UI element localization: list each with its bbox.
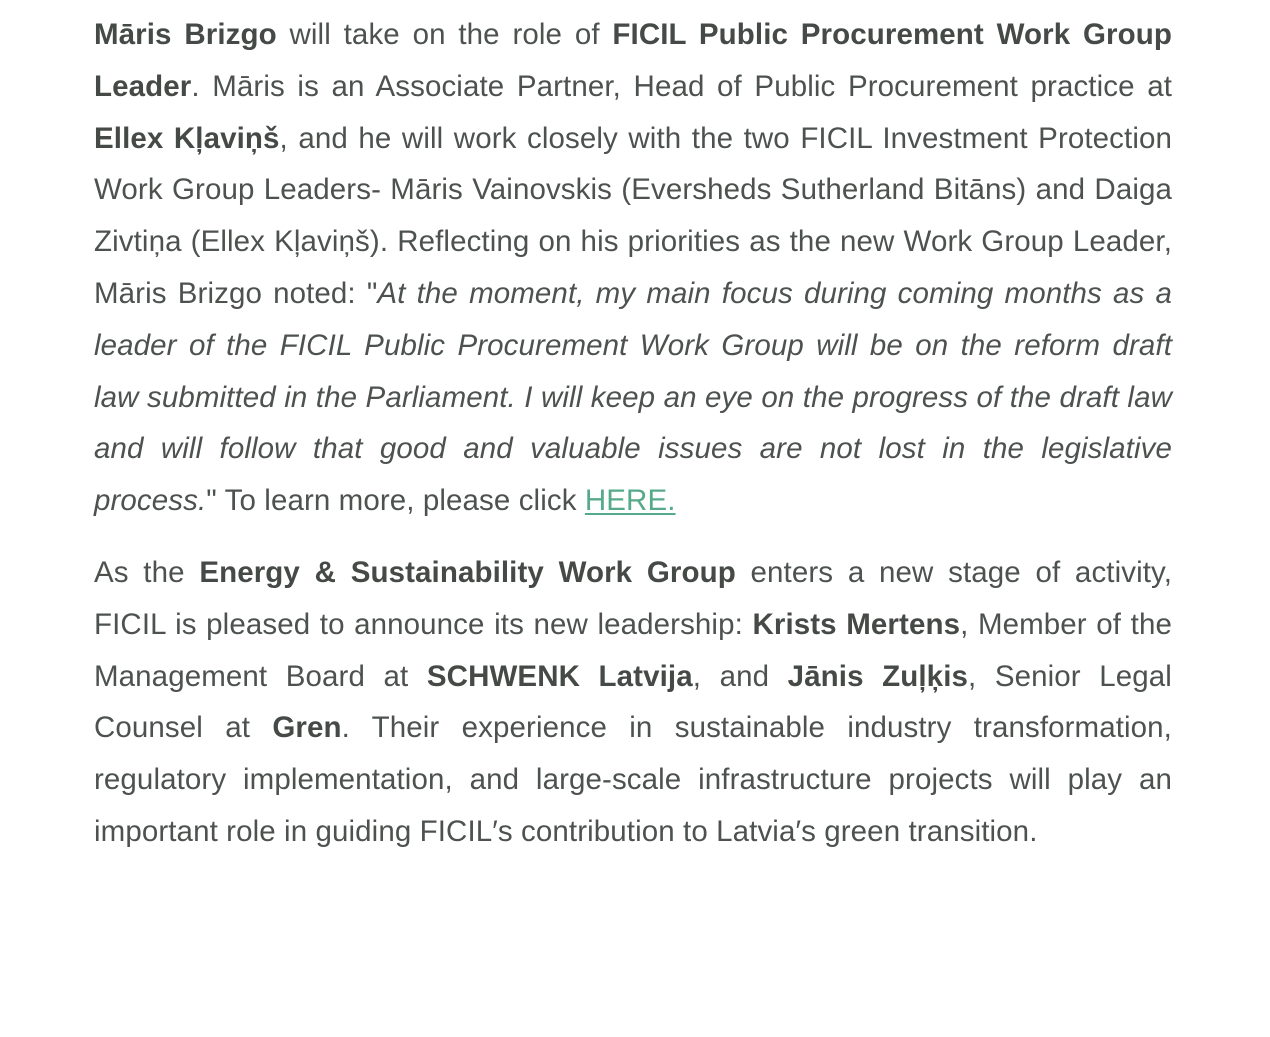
body-text: will take on the role of <box>277 18 613 51</box>
emphasis-bold: SCHWENK Latvija <box>427 660 693 693</box>
article-body: Māris Brizgo will take on the role of FI… <box>0 9 1270 858</box>
emphasis-bold: Ellex Kļaviņš <box>94 122 280 155</box>
here-link[interactable]: HERE. <box>585 484 676 517</box>
emphasis-bold: Energy & Sustainability Work Group <box>199 556 736 589</box>
emphasis-bold: Gren <box>272 711 341 744</box>
body-text: " To learn more, please click <box>206 484 585 517</box>
body-text: As the <box>94 556 199 589</box>
body-text: . Māris is an Associate Partner, Head of… <box>191 70 1172 103</box>
paragraph-procurement-leader: Māris Brizgo will take on the role of FI… <box>94 9 1172 527</box>
emphasis-bold: Māris Brizgo <box>94 18 277 51</box>
quote-italic: At the moment, my main focus during comi… <box>94 277 1172 517</box>
emphasis-bold: Jānis Zuļķis <box>788 660 968 693</box>
body-text: , and <box>693 660 788 693</box>
emphasis-bold: Krists Mertens <box>752 608 960 641</box>
paragraph-energy-sustainability: As the Energy & Sustainability Work Grou… <box>94 547 1172 858</box>
